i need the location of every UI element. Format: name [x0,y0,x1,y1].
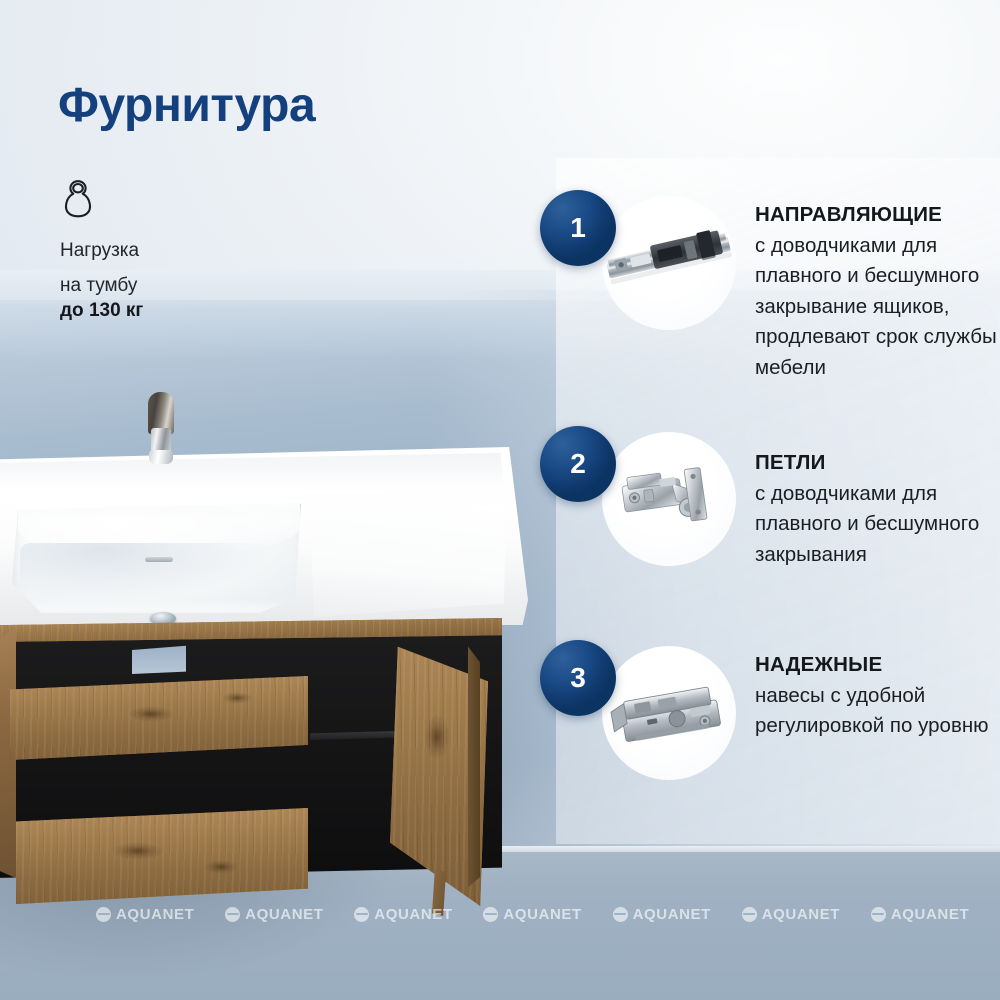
wood-knot [112,842,164,860]
watermark: AQUANET [742,906,871,923]
watermark: AQUANET [613,906,742,923]
aquanet-logo-icon [225,907,240,922]
feature-2-text: ПЕТЛИ с доводчиками для плавного и бесшу… [755,448,1000,570]
feature-1-heading: НАПРАВЛЯЮЩИЕ [755,203,942,226]
feature-3-heading: НАДЕЖНЫЕ [755,653,882,676]
watermark-row: AQUANET AQUANET AQUANET AQUANET AQUANET … [0,900,1000,928]
aquanet-logo-icon [871,907,886,922]
infographic-canvas: Фурнитура Нагрузка на тумбу до 130 кг [0,0,1000,1000]
mounting-bracket-photo [602,646,736,780]
open-drawer-bottom [16,808,308,904]
cabinet-hinge-icon [602,432,736,566]
chrome-faucet [148,392,174,464]
feature-3-body: навесы с удобной регулировкой по уровню [755,684,989,738]
watermark: AQUANET [354,906,483,923]
watermark: AQUANET [871,906,1000,923]
watermark: AQUANET [483,906,612,923]
feature-2-heading: ПЕТЛИ [755,451,826,474]
overflow-slot [145,557,173,562]
step-number-2: 2 [540,426,616,502]
features-panel: 1 НАПРАВЛЯЮЩИЕ с доводчиками для плавног… [556,158,1000,844]
watermark-text: AQUANET [116,906,194,923]
step-number-3: 3 [540,640,616,716]
watermark-text: AQUANET [374,906,452,923]
watermark-text: AQUANET [503,906,581,923]
feature-2-body: с доводчиками для плавного и бесшумного … [755,482,979,566]
watermark-text: AQUANET [633,906,711,923]
page-title: Фурнитура [58,78,315,133]
faucet-base [149,450,173,464]
ceramic-washbasin [0,447,528,625]
wood-knot [204,860,238,874]
wood-knot [424,714,450,760]
feature-1-text: НАПРАВЛЯЮЩИЕ с доводчиками для плавного … [755,200,1000,383]
mounting-bracket-icon [602,646,736,780]
cabinet-hinge-photo [602,432,736,566]
aquanet-logo-icon [742,907,757,922]
step-number-1: 1 [540,190,616,266]
watermark-text: AQUANET [762,906,840,923]
counter-surface-right [310,505,506,617]
load-label-line1: Нагрузка [60,238,280,263]
load-label-line2: на тумбу [60,273,280,298]
watermark-text: AQUANET [891,906,969,923]
feature-3-text: НАДЕЖНЫЕ навесы с удобной регулировкой п… [755,650,1000,742]
aquanet-logo-icon [613,907,628,922]
feature-1-body: с доводчиками для плавного и бесшумного … [755,234,997,379]
door-edge [468,636,480,898]
aquanet-logo-icon [96,907,111,922]
wood-knot [128,706,174,722]
kettlebell-icon [60,178,96,228]
drawer-slide-icon [602,196,736,330]
watermark: AQUANET [225,906,354,923]
watermark: AQUANET [96,906,225,923]
drawer-slide-photo [602,196,736,330]
aquanet-logo-icon [354,907,369,922]
wood-knot [222,692,252,704]
oak-cabinet [0,618,530,918]
load-value: до 130 кг [60,298,280,323]
load-capacity-block: Нагрузка на тумбу до 130 кг [60,178,280,323]
aquanet-logo-icon [483,907,498,922]
watermark-text: AQUANET [245,906,323,923]
basin-shadow [20,543,292,605]
